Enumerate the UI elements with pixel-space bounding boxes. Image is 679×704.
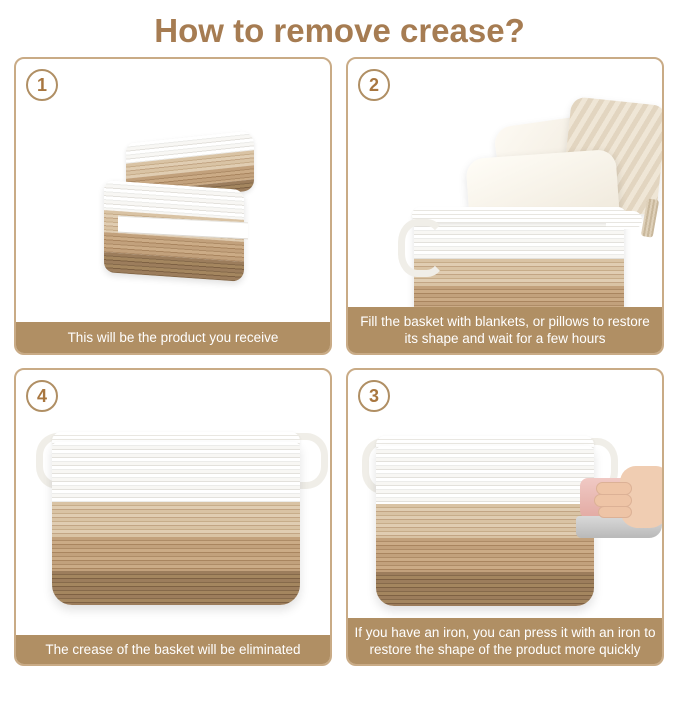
step-card-1: 1 xyxy=(14,57,332,355)
steps-grid: 1 xyxy=(14,57,665,666)
basket-rim xyxy=(412,207,626,223)
how-to-remove-crease-infographic: How to remove crease? 1 xyxy=(0,0,679,704)
step-caption: If you have an iron, you can press it wi… xyxy=(348,618,662,664)
finger xyxy=(598,506,632,518)
step-number-badge: 3 xyxy=(358,380,390,412)
step-caption: The crease of the basket will be elimina… xyxy=(16,635,330,664)
basket-handle-left xyxy=(398,219,446,277)
step-caption: This will be the product you receive xyxy=(16,322,330,353)
step-card-3: 3 xyxy=(346,368,664,666)
step-card-2: 2 xyxy=(346,57,664,355)
page-title: How to remove crease? xyxy=(0,0,679,54)
step-number-badge: 2 xyxy=(358,69,390,101)
step-number-badge: 4 xyxy=(26,380,58,412)
folded-basket-illustration xyxy=(16,59,330,353)
basket-body xyxy=(376,446,594,606)
step-number-badge: 1 xyxy=(26,69,58,101)
step-card-4: 4 The crease of the basket will be elimi… xyxy=(14,368,332,666)
basket-body xyxy=(52,442,300,605)
restored-basket-illustration xyxy=(16,370,330,664)
step-caption: Fill the basket with blankets, or pillow… xyxy=(348,307,662,353)
basket-handle-right xyxy=(606,211,642,229)
